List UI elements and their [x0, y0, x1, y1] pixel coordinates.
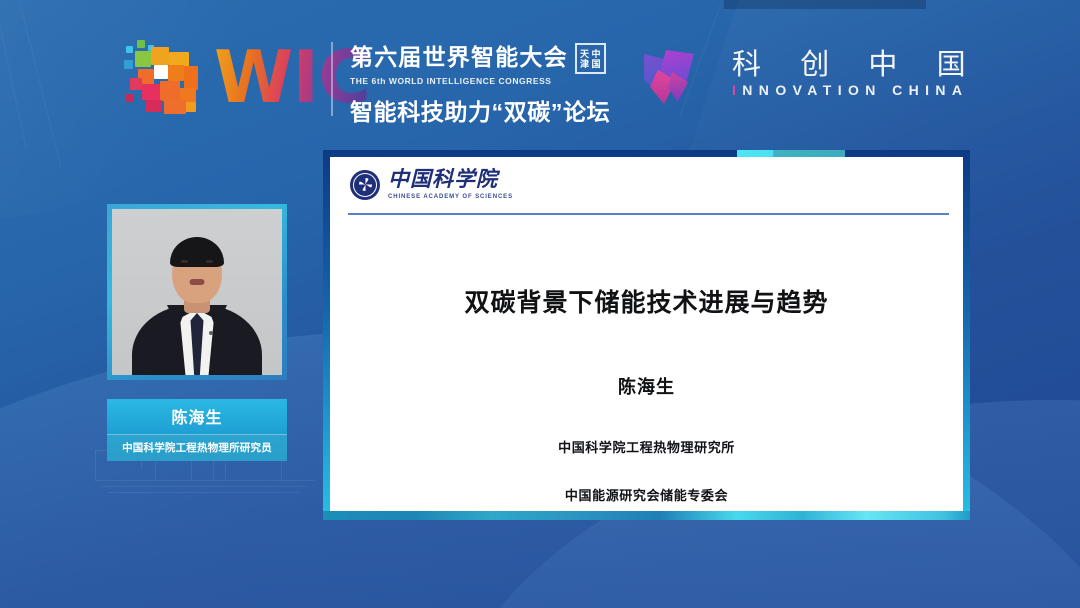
seal-char-2: 中 — [590, 49, 602, 59]
header-divider — [331, 42, 333, 116]
slide-affiliation-1: 中国科学院工程热物理研究所 — [330, 437, 963, 456]
butterfly-mark-icon — [638, 48, 708, 108]
wic-logo: WIC — [124, 36, 370, 118]
wic-wordmark: WIC — [214, 41, 370, 113]
congress-title-row: 第六届世界智能大会 天 中 津 国 — [350, 42, 610, 73]
congress-title-cn: 第六届世界智能大会 — [350, 45, 568, 70]
slide-title: 双碳背景下储能技术进展与趋势 — [330, 283, 963, 319]
seal-char-1: 天 — [579, 49, 591, 59]
pixel-head-icon — [124, 36, 210, 118]
cas-logo: 中国科学院 CHINESE ACADEMY OF SCIENCES — [350, 169, 513, 200]
congress-title-en: THE 6th WORLD INTELLIGENCE CONGRESS — [350, 76, 610, 86]
slide-frame-top-accent — [737, 150, 845, 157]
presentation-stage: WIC 第六届世界智能大会 天 中 津 国 THE 6th WORLD INTE… — [0, 0, 1080, 608]
speaker-panel: 陈海生 中国科学院工程热物理所研究员 — [107, 204, 287, 461]
cas-name-en: CHINESE ACADEMY OF SCIENCES — [388, 194, 513, 200]
presentation-slide[interactable]: 中国科学院 CHINESE ACADEMY OF SCIENCES 双碳背景下储… — [330, 157, 963, 511]
slide-body: 双碳背景下储能技术进展与趋势 陈海生 中国科学院工程热物理研究所 中国能源研究会… — [330, 215, 963, 511]
speaker-mouth — [190, 279, 205, 285]
slide-affiliation-2: 中国能源研究会储能专委会 — [330, 485, 963, 504]
cas-name-cn: 中国科学院 — [388, 169, 513, 190]
innovation-china-en-initial: I — [732, 82, 742, 98]
slide-frame: 中国科学院 CHINESE ACADEMY OF SCIENCES 双碳背景下储… — [323, 150, 970, 520]
tianjin-seal-icon: 天 中 津 国 — [575, 43, 606, 74]
wic-title-block: 第六届世界智能大会 天 中 津 国 THE 6th WORLD INTELLIG… — [350, 42, 610, 127]
lapel-mic-icon — [209, 331, 213, 335]
cas-seal-icon — [350, 170, 380, 200]
speaker-eye-right — [206, 260, 213, 263]
innovation-china-logo: 科 创 中 国 INNOVATION CHINA — [638, 48, 981, 108]
innovation-china-en-rest: NNOVATION CHINA — [742, 82, 968, 98]
forum-title: 智能科技助力“双碳”论坛 — [350, 93, 610, 127]
innovation-china-text: 科 创 中 国 INNOVATION CHINA — [732, 48, 981, 98]
speaker-eye-left — [181, 260, 188, 263]
speaker-video[interactable] — [112, 209, 282, 375]
innovation-china-cn: 科 创 中 国 — [732, 48, 981, 80]
speaker-video-frame[interactable] — [107, 204, 287, 380]
innovation-china-en: INNOVATION CHINA — [732, 82, 981, 98]
speaker-name-plate: 陈海生 中国科学院工程热物理所研究员 — [107, 399, 287, 461]
slide-org-header: 中国科学院 CHINESE ACADEMY OF SCIENCES — [330, 157, 963, 215]
event-header: WIC 第六届世界智能大会 天 中 津 国 THE 6th WORLD INTE… — [0, 0, 1080, 150]
seal-char-4: 国 — [590, 59, 602, 69]
slide-author: 陈海生 — [330, 373, 963, 399]
cas-name-block: 中国科学院 CHINESE ACADEMY OF SCIENCES — [388, 169, 513, 200]
speaker-name: 陈海生 — [107, 399, 287, 434]
speaker-title: 中国科学院工程热物理所研究员 — [107, 434, 287, 461]
slide-frame-bottom-accent — [323, 511, 970, 520]
seal-char-3: 津 — [579, 59, 591, 69]
